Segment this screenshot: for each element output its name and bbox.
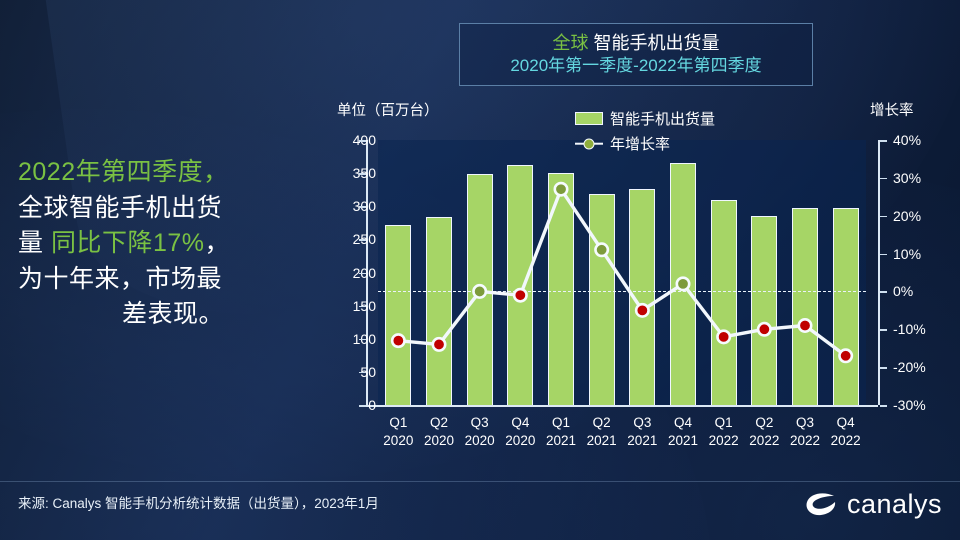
x-axis-quarter-label: Q4 bbox=[823, 414, 869, 432]
headline-line3-prefix: 量 bbox=[18, 229, 51, 257]
left-axis-tick-mark bbox=[359, 140, 366, 142]
x-axis-quarter-label: Q3 bbox=[619, 414, 665, 432]
x-axis-quarter-label: Q4 bbox=[660, 414, 706, 432]
x-axis-quarter-label: Q1 bbox=[375, 414, 421, 432]
bar bbox=[507, 165, 533, 405]
x-axis-year-label: 2021 bbox=[619, 432, 665, 450]
left-axis-tick-label: 50 bbox=[330, 364, 376, 380]
bar bbox=[711, 200, 737, 405]
legend-label: 年增长率 bbox=[610, 133, 670, 154]
headline-line3-suffix: ， bbox=[205, 229, 231, 257]
left-axis-tick-label: 150 bbox=[330, 298, 376, 314]
chart-subtitle: 2020年第一季度-2022年第四季度 bbox=[510, 55, 761, 77]
x-axis-quarter-label: Q3 bbox=[782, 414, 828, 432]
chart-title-metric: 智能手机出货量 bbox=[588, 33, 719, 53]
bar bbox=[385, 225, 411, 405]
right-axis-tick-mark bbox=[880, 329, 887, 331]
left-axis-tick-mark bbox=[359, 239, 366, 241]
x-axis-year-label: 2021 bbox=[538, 432, 584, 450]
x-axis-label: Q22021 bbox=[579, 414, 625, 450]
right-axis-tick-label: 0% bbox=[893, 283, 953, 299]
x-axis-quarter-label: Q2 bbox=[416, 414, 462, 432]
left-axis-tick-mark bbox=[359, 372, 366, 374]
legend-label: 智能手机出货量 bbox=[610, 108, 715, 129]
right-axis-title: 增长率 bbox=[870, 99, 914, 120]
right-axis-tick-label: 40% bbox=[893, 132, 953, 148]
right-axis-tick-label: -10% bbox=[893, 321, 953, 337]
left-axis-tick-mark bbox=[359, 306, 366, 308]
x-axis-quarter-label: Q1 bbox=[538, 414, 584, 432]
left-axis-tick-label: 300 bbox=[330, 198, 376, 214]
bar bbox=[426, 217, 452, 405]
legend-bar-swatch bbox=[575, 112, 603, 125]
left-axis-tick-mark bbox=[359, 206, 366, 208]
bar bbox=[467, 174, 493, 405]
x-axis-label: Q32021 bbox=[619, 414, 665, 450]
x-axis-year-label: 2022 bbox=[701, 432, 747, 450]
x-axis-label: Q22022 bbox=[741, 414, 787, 450]
right-axis-tick-mark bbox=[880, 254, 887, 256]
left-axis-tick-mark bbox=[359, 405, 366, 407]
right-axis-tick-mark bbox=[880, 405, 887, 407]
x-axis-year-label: 2021 bbox=[660, 432, 706, 450]
left-axis-tick-label: 250 bbox=[330, 231, 376, 247]
left-axis-tick-label: 200 bbox=[330, 265, 376, 281]
x-axis-label: Q12020 bbox=[375, 414, 421, 450]
chart-title-box: 全球 智能手机出货量 2020年第一季度-2022年第四季度 bbox=[459, 23, 813, 86]
x-axis-year-label: 2022 bbox=[823, 432, 869, 450]
canalys-swoosh-icon bbox=[804, 490, 838, 520]
x-axis-year-label: 2020 bbox=[497, 432, 543, 450]
right-axis-tick-label: 20% bbox=[893, 208, 953, 224]
x-axis-label: Q22020 bbox=[416, 414, 462, 450]
right-axis-tick-label: 30% bbox=[893, 170, 953, 186]
headline-text: 2022年第四季度， 全球智能手机出货 量 同比下降17%， 为十年来，市场最 … bbox=[18, 155, 328, 333]
x-axis-quarter-label: Q2 bbox=[579, 414, 625, 432]
x-axis-label: Q32020 bbox=[457, 414, 503, 450]
left-axis-tick-mark bbox=[359, 339, 366, 341]
left-axis-tick-mark bbox=[359, 273, 366, 275]
headline-line5: 差表现。 bbox=[18, 297, 328, 333]
x-axis-label: Q32022 bbox=[782, 414, 828, 450]
left-axis-tick-label: 0 bbox=[330, 397, 376, 413]
x-axis-quarter-label: Q4 bbox=[497, 414, 543, 432]
bar bbox=[670, 163, 696, 405]
legend-item: 年增长率 bbox=[575, 133, 715, 154]
bar bbox=[792, 208, 818, 405]
source-note: 来源: Canalys 智能手机分析统计数据（出货量），2023年1月 bbox=[18, 492, 379, 512]
headline-line1-highlight: 2022年第四季度， bbox=[18, 158, 229, 186]
left-axis-tick-mark bbox=[359, 173, 366, 175]
x-axis-quarter-label: Q1 bbox=[701, 414, 747, 432]
right-axis-tick-mark bbox=[880, 178, 887, 180]
footer-divider bbox=[0, 481, 960, 482]
x-axis-quarter-label: Q3 bbox=[457, 414, 503, 432]
chart-legend: 智能手机出货量年增长率 bbox=[575, 108, 715, 158]
x-axis-year-label: 2021 bbox=[579, 432, 625, 450]
x-axis-year-label: 2020 bbox=[457, 432, 503, 450]
x-axis-quarter-label: Q2 bbox=[741, 414, 787, 432]
right-axis-tick-label: -20% bbox=[893, 359, 953, 375]
canalys-logo: canalys bbox=[804, 489, 942, 520]
x-axis-label: Q42022 bbox=[823, 414, 869, 450]
legend-item: 智能手机出货量 bbox=[575, 108, 715, 129]
bar bbox=[629, 189, 655, 405]
x-axis-line bbox=[366, 405, 878, 407]
right-axis-line bbox=[878, 140, 880, 405]
bar bbox=[589, 194, 615, 405]
right-axis-tick-mark bbox=[880, 216, 887, 218]
chart-title-region: 全球 bbox=[552, 33, 588, 53]
right-axis-tick-label: 10% bbox=[893, 246, 953, 262]
logo-text: canalys bbox=[847, 489, 942, 520]
right-axis-tick-mark bbox=[880, 140, 887, 142]
x-axis-label: Q42021 bbox=[660, 414, 706, 450]
zero-reference-line bbox=[378, 291, 866, 292]
headline-line3-highlight: 同比下降17% bbox=[51, 229, 205, 257]
x-axis-year-label: 2022 bbox=[782, 432, 828, 450]
x-axis-year-label: 2020 bbox=[375, 432, 421, 450]
bar bbox=[833, 208, 859, 405]
right-axis-tick-label: -30% bbox=[893, 397, 953, 413]
left-axis-tick-label: 400 bbox=[330, 132, 376, 148]
right-axis-tick-mark bbox=[880, 291, 887, 293]
headline-line2: 全球智能手机出货 bbox=[18, 191, 328, 227]
legend-line-marker-icon bbox=[575, 137, 603, 150]
x-axis-label: Q12022 bbox=[701, 414, 747, 450]
left-axis-tick-label: 350 bbox=[330, 165, 376, 181]
x-axis-label: Q12021 bbox=[538, 414, 584, 450]
bar bbox=[751, 216, 777, 405]
headline-line4: 为十年来，市场最 bbox=[18, 262, 328, 298]
chart-title: 全球 智能手机出货量 bbox=[552, 32, 719, 55]
left-axis-tick-label: 100 bbox=[330, 331, 376, 347]
right-axis-tick-mark bbox=[880, 367, 887, 369]
left-axis-title: 单位（百万台） bbox=[337, 99, 439, 120]
x-axis-year-label: 2020 bbox=[416, 432, 462, 450]
x-axis-year-label: 2022 bbox=[741, 432, 787, 450]
bar bbox=[548, 173, 574, 405]
x-axis-label: Q42020 bbox=[497, 414, 543, 450]
